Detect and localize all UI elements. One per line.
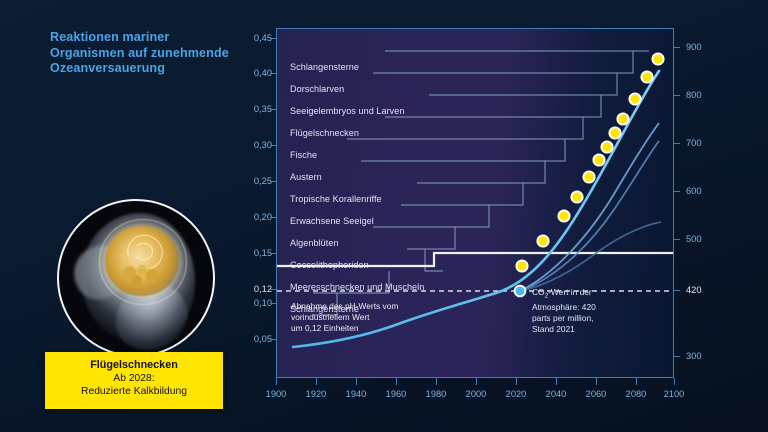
- x-tick-label-10: 2100: [654, 389, 694, 399]
- ph-annotation-line1: Abnahme des pH-Werts vom: [291, 301, 398, 312]
- page-title: Reaktionen mariner Organismen auf zunehm…: [50, 30, 235, 77]
- threshold-label-6: Tropische Korallenriffe: [290, 194, 382, 204]
- y-axis-left: 0,45 0,40 0,35 0,30 0,25 0,20 0,15 0,12 …: [232, 0, 272, 432]
- threshold-label-8: Algenblüten: [290, 238, 339, 248]
- callout-species-name: Flügelschnecken: [45, 359, 223, 372]
- ph-annotation-line2: vorindustriellem Wert: [291, 312, 398, 323]
- x-tick-label-8: 2060: [576, 389, 616, 399]
- x-tick-label-3: 1960: [376, 389, 416, 399]
- threshold-step-lines: [313, 51, 649, 315]
- x-tick-label-5: 2000: [456, 389, 496, 399]
- threshold-label-7: Erwachsene Seeigel: [290, 216, 374, 226]
- species-callout-box: Flügelschnecken Ab 2028: Reduzierte Kalk…: [45, 352, 223, 409]
- threshold-label-5: Austern: [290, 172, 322, 182]
- co2-annotation: CO2-Wert in der Atmosphäre: 420 parts pe…: [532, 287, 596, 335]
- threshold-label-3: Flügelschnecken: [290, 128, 359, 138]
- r-tick-label-6: 300: [686, 351, 702, 361]
- current-value-marker-2021: [515, 286, 526, 297]
- x-tick-label-7: 2040: [536, 389, 576, 399]
- threshold-markers: [516, 53, 663, 271]
- x-tick-label-6: 2020: [496, 389, 536, 399]
- infographic-stage: Reaktionen mariner Organismen auf zunehm…: [0, 0, 768, 432]
- ph-annotation-line3: um 0,12 Einheiten: [291, 323, 398, 334]
- callout-effect: Reduzierte Kalkbildung: [45, 385, 223, 398]
- r-tick-label-2: 700: [686, 138, 702, 148]
- r-tick-label-0: 900: [686, 42, 702, 52]
- x-tick-label-4: 1980: [416, 389, 456, 399]
- co2-annotation-line2: Atmosphäre: 420: [532, 302, 596, 313]
- callout-year: Ab 2028:: [45, 372, 223, 385]
- co2-annotation-line1: CO2-Wert in der: [532, 287, 596, 302]
- r-tick-label-3: 600: [686, 186, 702, 196]
- species-photo: [57, 199, 215, 357]
- threshold-label-10: Meeresschnecken und Muscheln: [290, 282, 424, 292]
- r-tick-label-1: 800: [686, 90, 702, 100]
- threshold-label-0: Schlangensterne: [290, 62, 359, 72]
- x-tick-label-0: 1900: [256, 389, 296, 399]
- co2-annotation-line3: parts per million,: [532, 313, 596, 324]
- co2-annotation-line4: Stand 2021: [532, 324, 596, 335]
- scenario-line-medium: [520, 141, 659, 291]
- r-tick-label-5: 420: [686, 285, 702, 295]
- threshold-label-4: Fische: [290, 150, 317, 160]
- x-tick-label-2: 1940: [336, 389, 376, 399]
- ph-annotation: Abnahme des pH-Werts vom vorindustrielle…: [291, 301, 398, 334]
- chart-plot-area: Schlangensterne Dorschlarven Seeigelembr…: [276, 28, 674, 378]
- y-axis-right: 900 800 700 600 500 420 300: [686, 0, 746, 432]
- threshold-label-2: Seeigelembryos und Larven: [290, 106, 405, 116]
- x-tick-label-9: 2080: [616, 389, 656, 399]
- pteropod-photo-circle: [57, 199, 215, 357]
- scenario-line-high: [520, 123, 659, 291]
- r-tick-label-4: 500: [686, 234, 702, 244]
- threshold-label-9: Coccolithophoriden: [290, 260, 369, 270]
- x-tick-label-1: 1920: [296, 389, 336, 399]
- threshold-label-1: Dorschlarven: [290, 84, 344, 94]
